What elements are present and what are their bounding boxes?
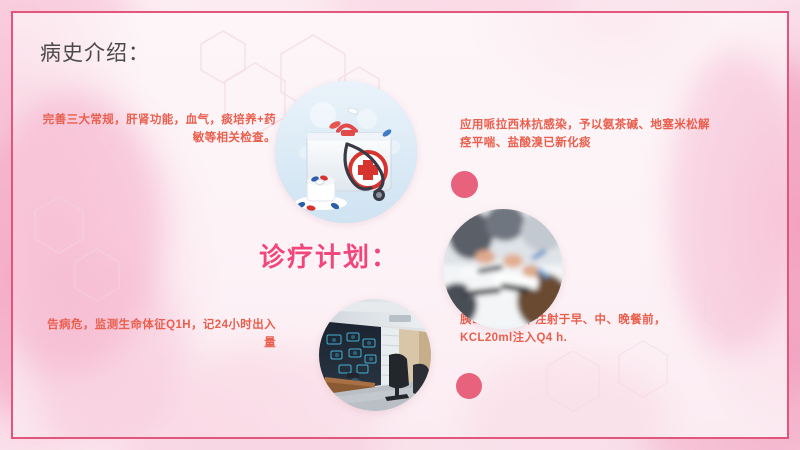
note-bottom-left: 告病危，监测生命体征Q1H，记24小时出入量 (41, 317, 276, 353)
medical-kit-illustration-icon (275, 81, 417, 223)
conference-room-photo (319, 299, 431, 411)
slide-frame: 病史介绍： 完善三大常规，肝肾功能，血气，痰培养+药敏等相关检查。 应用哌拉西林… (11, 11, 789, 439)
meeting-discussion-photo (443, 209, 563, 329)
accent-dot-top (451, 171, 478, 198)
hexagon-watermark-icon-left (17, 183, 137, 313)
presentation-slide: 病史介绍： 完善三大常规，肝肾功能，血气，痰培养+药敏等相关检查。 应用哌拉西林… (0, 0, 800, 450)
inner-wash-right (667, 53, 789, 353)
note-top-right: 应用哌拉西林抗感染，予以氨茶碱、地塞米松解痉平喘、盐酸溴已新化痰 (460, 117, 710, 153)
conference-room-illustration-icon (319, 299, 431, 411)
meeting-discussion-illustration-icon (443, 209, 563, 329)
accent-dot-bottom (456, 373, 482, 399)
center-heading: 诊疗计划： (259, 237, 399, 274)
note-top-left: 完善三大常规，肝肾功能，血气，痰培养+药敏等相关检查。 (41, 112, 276, 148)
medical-kit-photo (275, 81, 417, 223)
page-title: 病史介绍： (40, 37, 150, 67)
inner-wash-bottom-right (467, 357, 667, 439)
